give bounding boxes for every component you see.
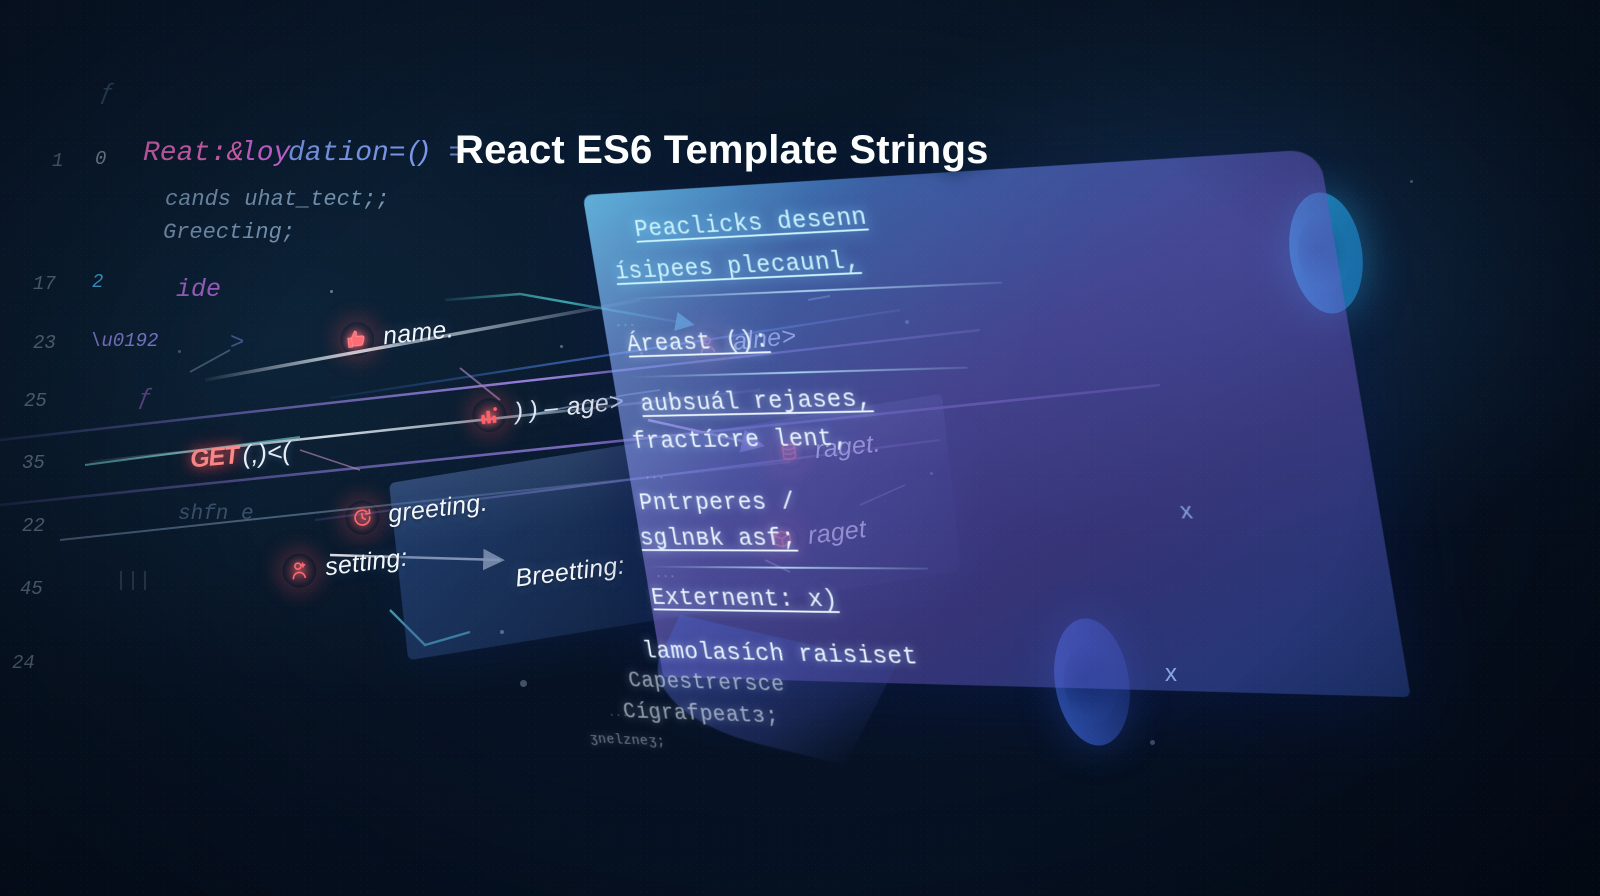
node-prefix: ) ) – bbox=[514, 394, 559, 426]
thumbs-up-icon bbox=[339, 320, 376, 357]
scroll-document[interactable]: Peaclicks desenn ísipees plecaunl, Áreas… bbox=[600, 140, 1500, 760]
scroll-line: Pntrperes / bbox=[637, 489, 798, 517]
speck bbox=[330, 290, 333, 293]
scroll-line: Cígrafpeatз; bbox=[621, 700, 780, 729]
get-badge-symbols: (,)<( bbox=[241, 436, 292, 471]
scroll-sheet: Peaclicks desenn ísipees plecaunl, Áreas… bbox=[583, 149, 1411, 697]
user-add-icon bbox=[280, 552, 318, 590]
speck bbox=[560, 345, 563, 348]
flow-line bbox=[190, 350, 230, 372]
scroll-line: ʒnelzneʒ; bbox=[589, 731, 667, 750]
illustration-canvas: 1 0 17 2 23 \u0192 25 35 22 45 24 Reat:&… bbox=[0, 0, 1600, 896]
flow-line bbox=[300, 450, 360, 470]
scroll-line: fractícre lent, bbox=[630, 424, 850, 455]
bar-chart-icon bbox=[471, 396, 508, 433]
page-title: React ES6 Template Strings bbox=[455, 128, 989, 173]
scroll-line: Capestrerѕсe bbox=[627, 669, 787, 698]
scroll-line: Externent: х) bbox=[649, 584, 840, 614]
node-label: name. bbox=[382, 315, 456, 351]
get-badge-label: GET bbox=[189, 441, 240, 474]
speck bbox=[520, 680, 527, 687]
scroll-scribble: ··· bbox=[607, 708, 630, 722]
speck bbox=[500, 630, 504, 634]
refresh-icon bbox=[343, 499, 381, 537]
scroll-line: aubsuál rejases, bbox=[638, 385, 874, 418]
scroll-scribble: ··· bbox=[643, 471, 666, 485]
scroll-scribble: ··· bbox=[654, 570, 677, 584]
scroll-line: sglnвk asf; bbox=[638, 525, 799, 553]
scroll-roll-glyph: x bbox=[1165, 660, 1177, 688]
scroll-scribble: ··· bbox=[614, 318, 637, 333]
speck bbox=[178, 350, 181, 353]
scroll-line: Áreast (): bbox=[625, 326, 771, 358]
